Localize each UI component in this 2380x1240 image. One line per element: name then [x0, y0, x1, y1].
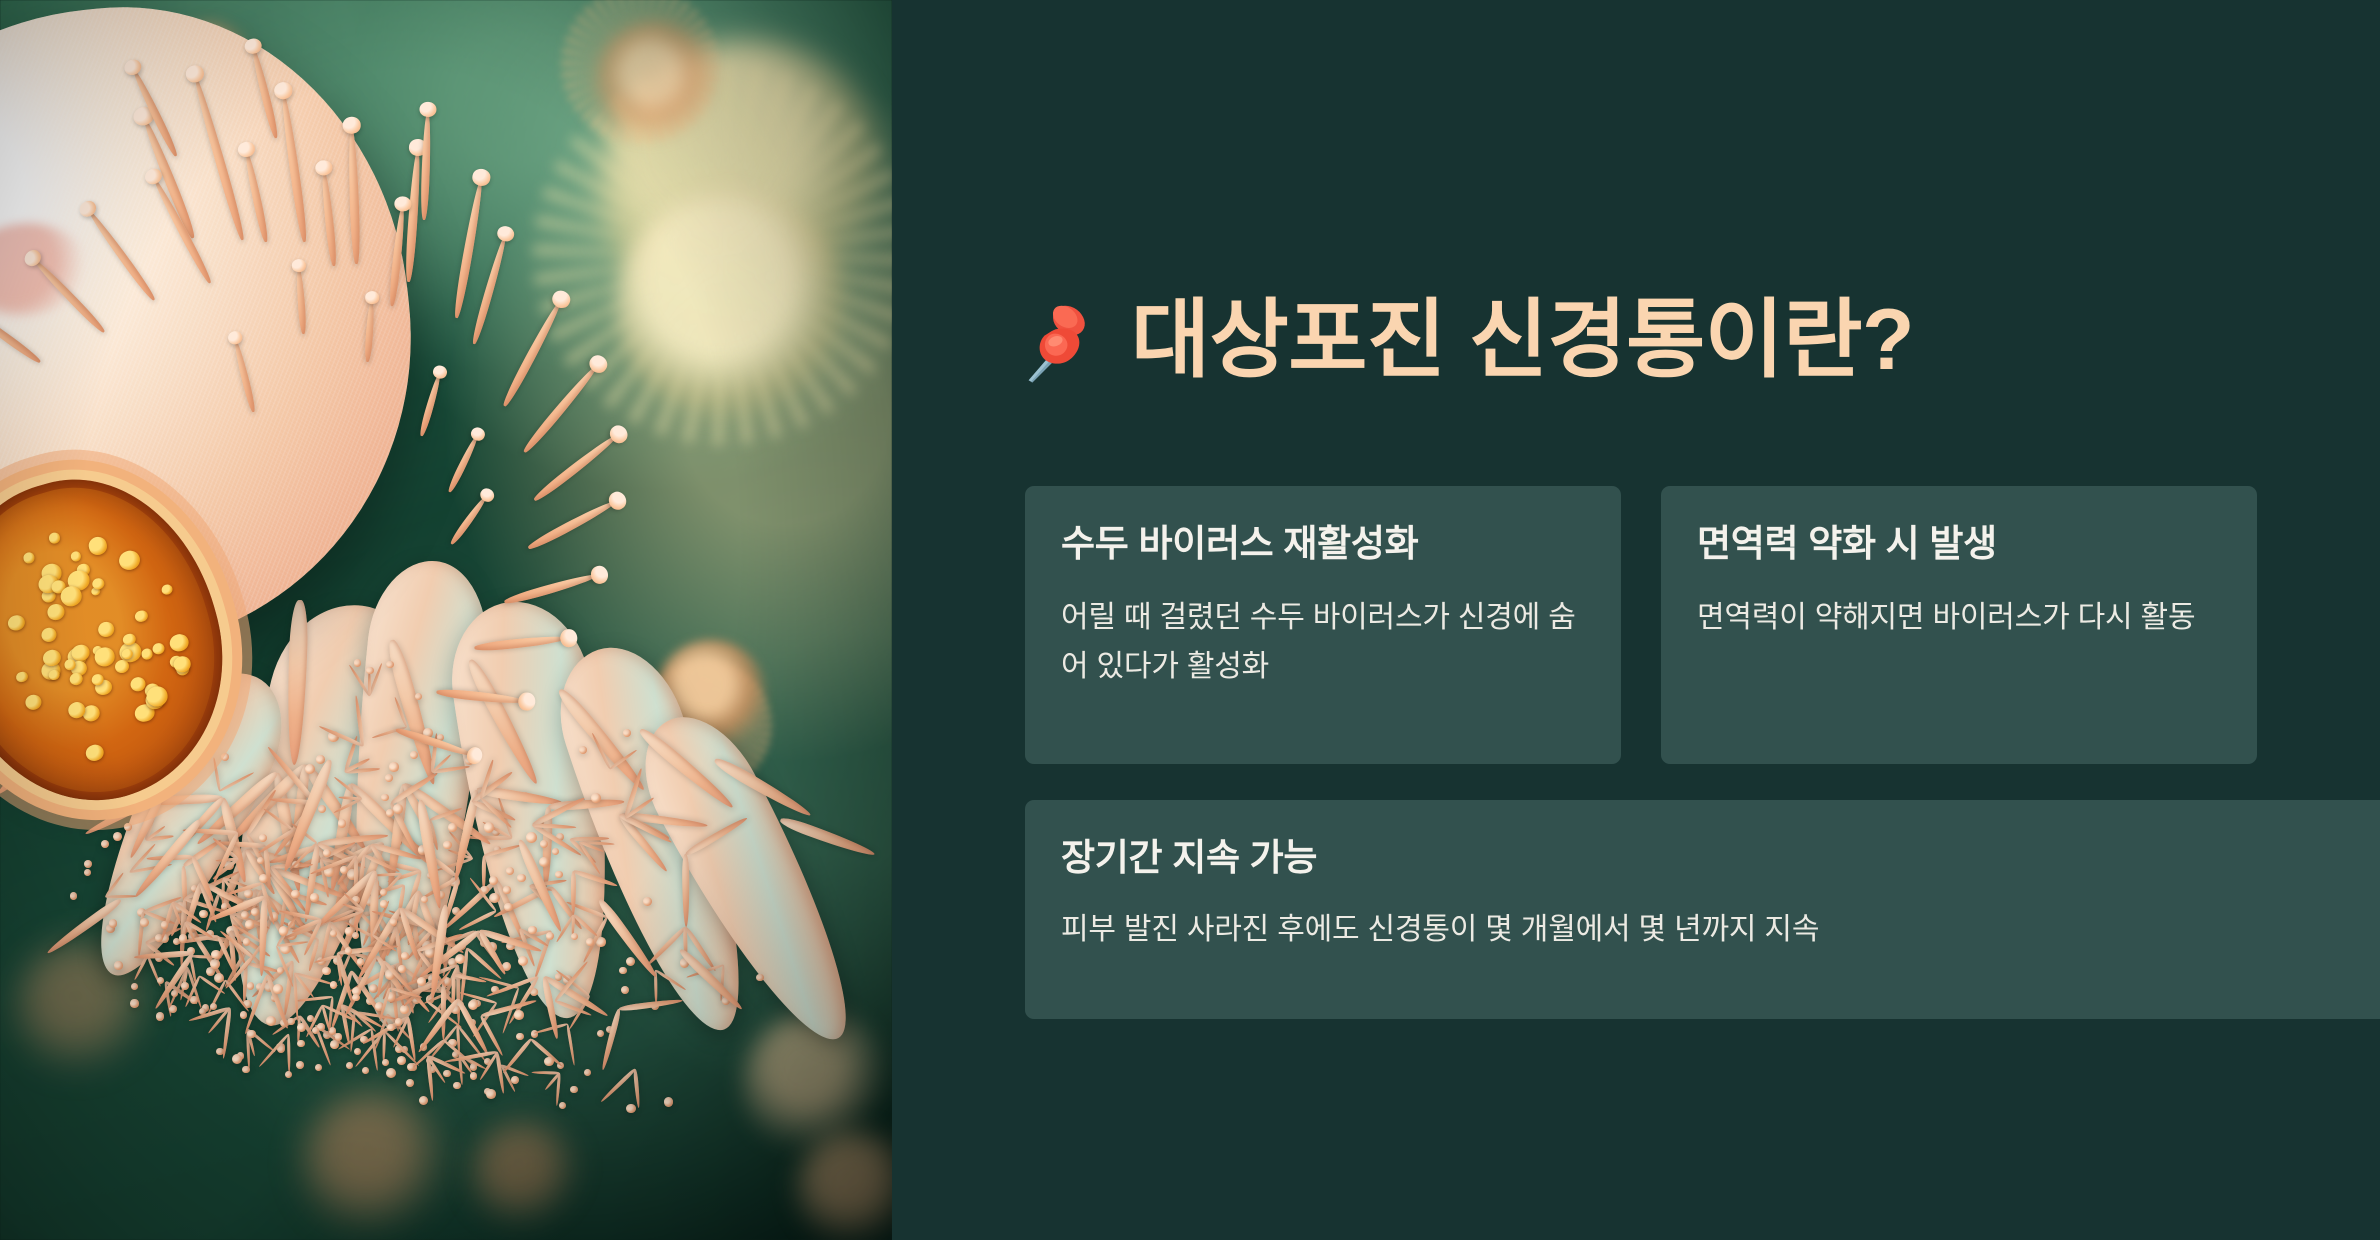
page-title: 대상포진 신경통이란? — [1131, 295, 1914, 385]
dendrite-terminal-knob — [251, 908, 259, 916]
dendrite-terminal-knob — [756, 974, 764, 982]
pushpin-icon — [1025, 297, 1103, 383]
dendrite-terminal-knob — [211, 950, 220, 959]
info-card-grid: 수두 바이러스 재활성화 어릴 때 걸렸던 수두 바이러스가 신경에 숨어 있다… — [1025, 486, 2380, 1019]
dendrite-terminal-knob — [419, 1096, 429, 1106]
dendrite-terminal-knob — [113, 832, 122, 841]
dendrite-terminal-knob — [330, 1040, 339, 1049]
dendrite-terminal-knob — [415, 693, 422, 700]
info-card-body: 피부 발진 사라진 후에도 신경통이 몇 개월에서 몇 년까지 지속 — [1061, 906, 2353, 955]
dendrite-terminal-knob — [546, 932, 555, 941]
dendrite-terminal-knob — [232, 1054, 242, 1064]
dendrite-terminal-knob — [597, 1030, 604, 1037]
info-card-title: 장기간 지속 가능 — [1061, 834, 2353, 882]
dendrite-terminal-knob — [84, 869, 91, 876]
dendrite-terminal-knob — [386, 661, 393, 668]
blurred-virion — [598, 130, 848, 380]
dendrite-terminal-knob — [470, 1072, 477, 1079]
dendrite-terminal-knob — [626, 957, 635, 966]
dendrite-terminal-knob — [140, 918, 149, 927]
dendrite-terminal-knob — [506, 867, 514, 875]
dendrite-terminal-knob — [503, 886, 510, 893]
dendrite-terminal-knob — [559, 1102, 566, 1109]
dendrite-terminal-knob — [259, 834, 268, 843]
dendrite-terminal-knob — [323, 849, 332, 858]
dendrite-terminal-knob — [297, 1023, 306, 1032]
dendrite-terminal-knob — [357, 958, 364, 965]
title-row: 대상포진 신경통이란? — [1025, 295, 1914, 385]
dendrite-terminal-knob — [181, 982, 189, 990]
dendrite-terminal-knob — [386, 809, 394, 817]
dendrite-terminal-knob — [643, 897, 652, 906]
dendrite-terminal-knob — [310, 893, 319, 902]
dendrite-terminal-knob — [621, 986, 629, 994]
dendrite-terminal-knob — [114, 961, 122, 969]
dendrite-terminal-knob — [448, 823, 457, 832]
dendrite-terminal-knob — [619, 967, 626, 974]
dendrite-terminal-knob — [335, 1033, 343, 1041]
dendrite-terminal-knob — [340, 866, 348, 874]
dendrite-terminal-knob — [552, 848, 559, 855]
dendrite-terminal-knob — [389, 762, 399, 772]
dendrite-terminal-knob — [70, 892, 77, 899]
bokeh-sphere — [470, 1120, 580, 1230]
dendrite-terminal-knob — [398, 965, 406, 973]
info-card[interactable]: 면역력 약화 시 발생 면역력이 약해지면 바이러스가 다시 활동 — [1661, 486, 2257, 764]
dendrite-terminal-knob — [571, 933, 578, 940]
dendrite-terminal-knob — [579, 746, 587, 754]
dendrite-terminal-knob — [247, 982, 254, 989]
dendrite-terminal-knob — [352, 994, 359, 1001]
dendrite-terminal-knob — [453, 1082, 460, 1089]
dendrite-terminal-knob — [397, 1056, 406, 1065]
dendrite-terminal-knob — [157, 977, 164, 984]
dendrite-terminal-knob — [584, 1069, 591, 1076]
dendrite-terminal-knob — [526, 832, 537, 843]
dendrite-terminal-knob — [555, 871, 563, 879]
dendrite-terminal-knob — [285, 1071, 292, 1078]
dendrite-terminal-knob — [540, 840, 548, 848]
dendrite-terminal-knob — [179, 934, 188, 943]
info-card[interactable]: 수두 바이러스 재활성화 어릴 때 걸렸던 수두 바이러스가 신경에 숨어 있다… — [1025, 486, 1621, 764]
dendrite-terminal-knob — [287, 1018, 294, 1025]
dendrite-terminal-knob — [514, 1010, 524, 1020]
info-card-body: 면역력이 약해지면 바이러스가 다시 활동 — [1697, 594, 2221, 643]
dendrite-terminal-knob — [528, 926, 537, 935]
dendrite-terminal-knob — [161, 921, 168, 928]
dendrite-terminal-knob — [305, 764, 315, 774]
dendrite-terminal-knob — [322, 967, 331, 976]
dendrite-terminal-knob — [517, 874, 525, 882]
dendrite-terminal-knob — [291, 890, 300, 899]
dendrite-terminal-knob — [504, 903, 513, 912]
dendrite-terminal-knob — [257, 857, 264, 864]
dendrite-branch — [570, 871, 575, 915]
dendrite-terminal-knob — [393, 804, 403, 814]
dendrite-terminal-knob — [210, 959, 219, 968]
dendrite-terminal-knob — [171, 990, 178, 997]
dendrite-terminal-knob — [387, 1024, 394, 1031]
dendrite-terminal-knob — [468, 1000, 478, 1010]
dendrite-terminal-knob — [346, 1062, 353, 1069]
dendrite-terminal-knob — [124, 823, 131, 830]
dendrite-terminal-knob — [84, 860, 92, 868]
dendrite-terminal-knob — [240, 1011, 248, 1019]
dendrite-terminal-knob — [664, 1097, 673, 1106]
dendrite-terminal-knob — [381, 794, 388, 801]
dendrite-terminal-knob — [366, 667, 373, 674]
dendrite-terminal-knob — [406, 1079, 414, 1087]
dendrite-terminal-knob — [297, 1040, 304, 1047]
dendrite-terminal-knob — [395, 1018, 402, 1025]
dendrite-terminal-knob — [484, 822, 495, 833]
dendrite-terminal-knob — [443, 841, 452, 850]
dendrite-terminal-knob — [626, 1104, 636, 1114]
dendrite-terminal-knob — [489, 876, 498, 885]
dendrite-terminal-knob — [345, 947, 352, 954]
dendrite-terminal-knob — [330, 930, 337, 937]
dendrite-terminal-knob — [354, 1048, 361, 1055]
dendrite-terminal-knob — [516, 1033, 524, 1041]
dendrite-terminal-knob — [101, 840, 109, 848]
dendrite-terminal-knob — [318, 805, 326, 813]
bokeh-sphere — [300, 1090, 450, 1240]
dendrite-terminal-knob — [279, 926, 288, 935]
dendrite-terminal-knob — [338, 819, 346, 827]
dendrite-terminal-knob — [273, 984, 283, 994]
dendrite-terminal-knob — [266, 1016, 276, 1026]
dendrite-terminal-knob — [539, 857, 549, 867]
dendrite-terminal-knob — [244, 889, 253, 898]
dendrite-terminal-knob — [156, 1012, 164, 1020]
content-panel: 대상포진 신경통이란? 수두 바이러스 재활성화 어릴 때 걸렸던 수두 바이러… — [892, 0, 2380, 1240]
dendrite-terminal-knob — [380, 900, 387, 907]
dendrite-terminal-knob — [623, 729, 631, 737]
dendrite-terminal-knob — [382, 1059, 389, 1066]
dendrite-terminal-knob — [385, 774, 393, 782]
dendrite-branch — [682, 854, 690, 927]
dendrite-terminal-knob — [591, 793, 601, 803]
info-card-body: 어릴 때 걸렸던 수두 바이러스가 신경에 숨어 있다가 활성화 — [1061, 594, 1585, 691]
dendrite-branch — [368, 670, 371, 696]
dendrite-terminal-knob — [109, 919, 118, 928]
dendrite-terminal-knob — [330, 981, 337, 988]
dendrite-terminal-knob — [131, 983, 138, 990]
dendrite-terminal-knob — [247, 1030, 255, 1038]
dendrite-terminal-knob — [518, 956, 528, 966]
dendrite-terminal-knob — [245, 920, 254, 929]
dendrite-terminal-knob — [206, 967, 215, 976]
dendrite-terminal-knob — [242, 1066, 249, 1073]
dendrite-terminal-knob — [486, 1089, 496, 1099]
slide-root: 대상포진 신경통이란? 수두 바이러스 재활성화 어릴 때 걸렸던 수두 바이러… — [0, 0, 2380, 1240]
dendrite-terminal-knob — [221, 753, 229, 761]
dendrite-terminal-knob — [410, 751, 418, 759]
dendrite-terminal-knob — [181, 768, 188, 775]
dendrite-terminal-knob — [401, 952, 410, 961]
dendrite-terminal-knob — [345, 927, 354, 936]
dendrite-terminal-knob — [296, 1061, 304, 1069]
dendrite-terminal-knob — [570, 1086, 577, 1093]
dendrite-terminal-knob — [511, 1076, 519, 1084]
dendrite-terminal-knob — [417, 977, 426, 986]
dendrite-terminal-knob — [362, 1067, 370, 1075]
dendrite-terminal-knob — [243, 938, 250, 945]
bokeh-sphere — [594, 20, 720, 146]
dendrite-terminal-knob — [443, 1070, 450, 1077]
dendrite-terminal-knob — [586, 938, 594, 946]
dendrite-terminal-knob — [312, 1027, 319, 1034]
dendrite-terminal-knob — [130, 999, 138, 1007]
dendrite-terminal-knob — [544, 1057, 553, 1066]
dendrite-terminal-knob — [354, 659, 361, 666]
hero-image-panel — [0, 0, 892, 1240]
dendrite-terminal-knob — [380, 889, 387, 896]
info-card[interactable]: 장기간 지속 가능 피부 발진 사라진 후에도 신경통이 몇 개월에서 몇 년까… — [1025, 800, 2380, 1019]
info-card-title: 수두 바이러스 재활성화 — [1061, 520, 1585, 568]
dendrite-terminal-knob — [386, 1068, 396, 1078]
dendrite-terminal-knob — [315, 1064, 322, 1071]
dendrite-terminal-knob — [390, 918, 397, 925]
info-card-title: 면역력 약화 시 발생 — [1697, 520, 2221, 568]
dendrite-terminal-knob — [421, 896, 428, 903]
